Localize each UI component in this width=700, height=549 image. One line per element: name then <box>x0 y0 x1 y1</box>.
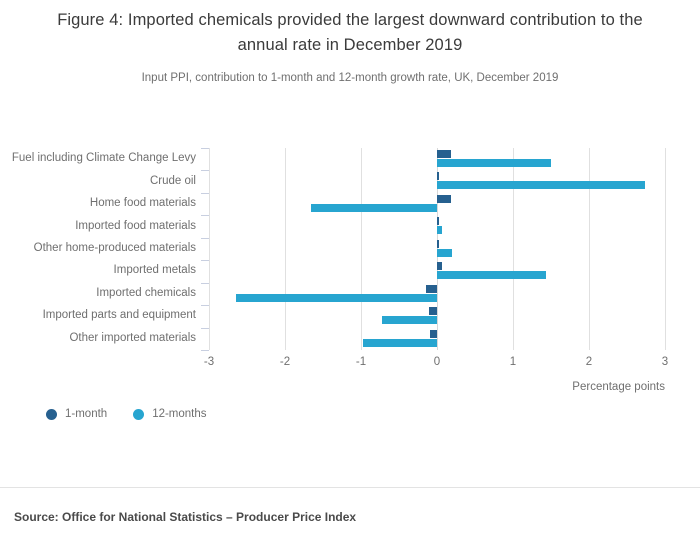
legend-label: 1-month <box>65 408 107 420</box>
x-axis-tick-label: 0 <box>434 356 440 368</box>
bar[interactable] <box>363 339 437 347</box>
y-axis-tick <box>201 193 209 194</box>
bar[interactable] <box>426 285 437 293</box>
y-axis-tick-label: Other home-produced materials <box>6 242 196 254</box>
y-axis-tick-label: Home food materials <box>6 197 196 209</box>
bar-group <box>209 238 665 260</box>
legend-label: 12-months <box>152 408 206 420</box>
plot-area <box>209 148 665 350</box>
bar[interactable] <box>382 316 437 324</box>
y-axis-labels: Fuel including Climate Change LevyCrude … <box>0 148 196 350</box>
chart-header: Figure 4: Imported chemicals provided th… <box>0 0 700 84</box>
y-axis-tick-label: Imported parts and equipment <box>6 309 196 321</box>
bar[interactable] <box>429 307 437 315</box>
bar[interactable] <box>437 159 551 167</box>
bar-group <box>209 215 665 237</box>
bar[interactable] <box>437 181 645 189</box>
gridline-3 <box>665 148 666 350</box>
footer-divider <box>0 487 700 488</box>
bar[interactable] <box>437 195 451 203</box>
bar[interactable] <box>236 294 437 302</box>
bar[interactable] <box>437 249 452 257</box>
x-axis-tick-label: -3 <box>204 356 214 368</box>
circle-dot-icon <box>46 409 57 420</box>
legend-item[interactable]: 12-months <box>133 408 206 420</box>
bar-group <box>209 328 665 350</box>
y-axis-tick-label: Imported chemicals <box>6 287 196 299</box>
x-axis-title: Percentage points <box>430 381 665 393</box>
y-axis-tick <box>201 260 209 261</box>
bar[interactable] <box>430 330 437 338</box>
bar-group <box>209 170 665 192</box>
chart-legend: 1-month12-months <box>46 408 207 420</box>
y-axis-tick <box>201 283 209 284</box>
y-axis-tick <box>201 215 209 216</box>
x-axis-tick-label: 1 <box>510 356 516 368</box>
legend-item[interactable]: 1-month <box>46 408 107 420</box>
bar[interactable] <box>437 262 442 270</box>
x-axis-tick-label: 2 <box>586 356 592 368</box>
y-axis-tick-label: Other imported materials <box>6 332 196 344</box>
y-axis-tick-label: Fuel including Climate Change Levy <box>6 152 196 164</box>
bar[interactable] <box>437 172 439 180</box>
page-title: Figure 4: Imported chemicals provided th… <box>30 8 670 58</box>
y-axis-tick-label: Imported metals <box>6 264 196 276</box>
bar-group <box>209 148 665 170</box>
y-axis-tick <box>201 170 209 171</box>
y-axis-tick-label: Crude oil <box>6 175 196 187</box>
y-axis-tick <box>201 350 209 351</box>
bar[interactable] <box>437 150 451 158</box>
bar-group <box>209 260 665 282</box>
bar[interactable] <box>437 217 439 225</box>
x-axis-tick-label: -1 <box>356 356 366 368</box>
bar-group <box>209 193 665 215</box>
source-note: Source: Office for National Statistics –… <box>14 510 356 524</box>
bar[interactable] <box>437 271 546 279</box>
y-axis-tick <box>201 328 209 329</box>
y-axis-tick <box>201 148 209 149</box>
y-axis-tick-label: Imported food materials <box>6 220 196 232</box>
y-axis-tick <box>201 238 209 239</box>
y-axis-tick <box>201 305 209 306</box>
x-axis-tick-label: -2 <box>280 356 290 368</box>
bar[interactable] <box>311 204 437 212</box>
bar-group <box>209 283 665 305</box>
x-axis-tick-label: 3 <box>662 356 668 368</box>
bar[interactable] <box>437 226 442 234</box>
x-axis-labels: -3-2-10123 <box>209 356 665 374</box>
circle-dot-icon <box>133 409 144 420</box>
chart-subtitle: Input PPI, contribution to 1-month and 1… <box>30 72 670 84</box>
bar-group <box>209 305 665 327</box>
bar[interactable] <box>437 240 439 248</box>
